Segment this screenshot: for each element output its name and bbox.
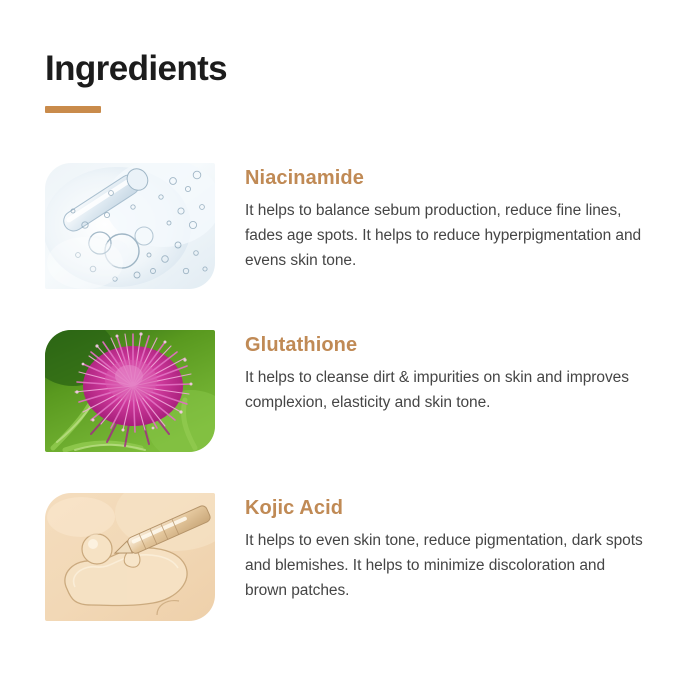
ingredients-page: Ingredients: [0, 0, 679, 679]
ingredient-text-block: Kojic Acid It helps to even skin tone, r…: [245, 493, 645, 603]
ingredient-list: Niacinamide It helps to balance sebum pr…: [45, 163, 645, 621]
ingredient-description: It helps to balance sebum production, re…: [245, 198, 645, 273]
ingredient-text-block: Niacinamide It helps to balance sebum pr…: [245, 163, 645, 273]
milk-thistle-flower-photo: [45, 330, 215, 452]
page-title: Ingredients: [45, 50, 227, 89]
ingredient-description: It helps to cleanse dirt & impurities on…: [245, 365, 645, 415]
serum-dropper-bubbles-photo: [45, 163, 215, 289]
page-header: Ingredients: [45, 50, 227, 113]
ingredient-text-block: Glutathione It helps to cleanse dirt & i…: [245, 330, 645, 415]
ingredient-item-niacinamide: Niacinamide It helps to balance sebum pr…: [45, 163, 645, 289]
title-accent-rule: [45, 106, 101, 113]
ingredient-name: Kojic Acid: [245, 497, 645, 519]
ingredient-item-glutathione: Glutathione It helps to cleanse dirt & i…: [45, 330, 645, 452]
ingredient-name: Glutathione: [245, 334, 645, 356]
beige-serum-droplet-photo: [45, 493, 215, 621]
ingredient-description: It helps to even skin tone, reduce pigme…: [245, 528, 645, 603]
ingredient-item-kojic-acid: Kojic Acid It helps to even skin tone, r…: [45, 493, 645, 621]
ingredient-name: Niacinamide: [245, 167, 645, 189]
